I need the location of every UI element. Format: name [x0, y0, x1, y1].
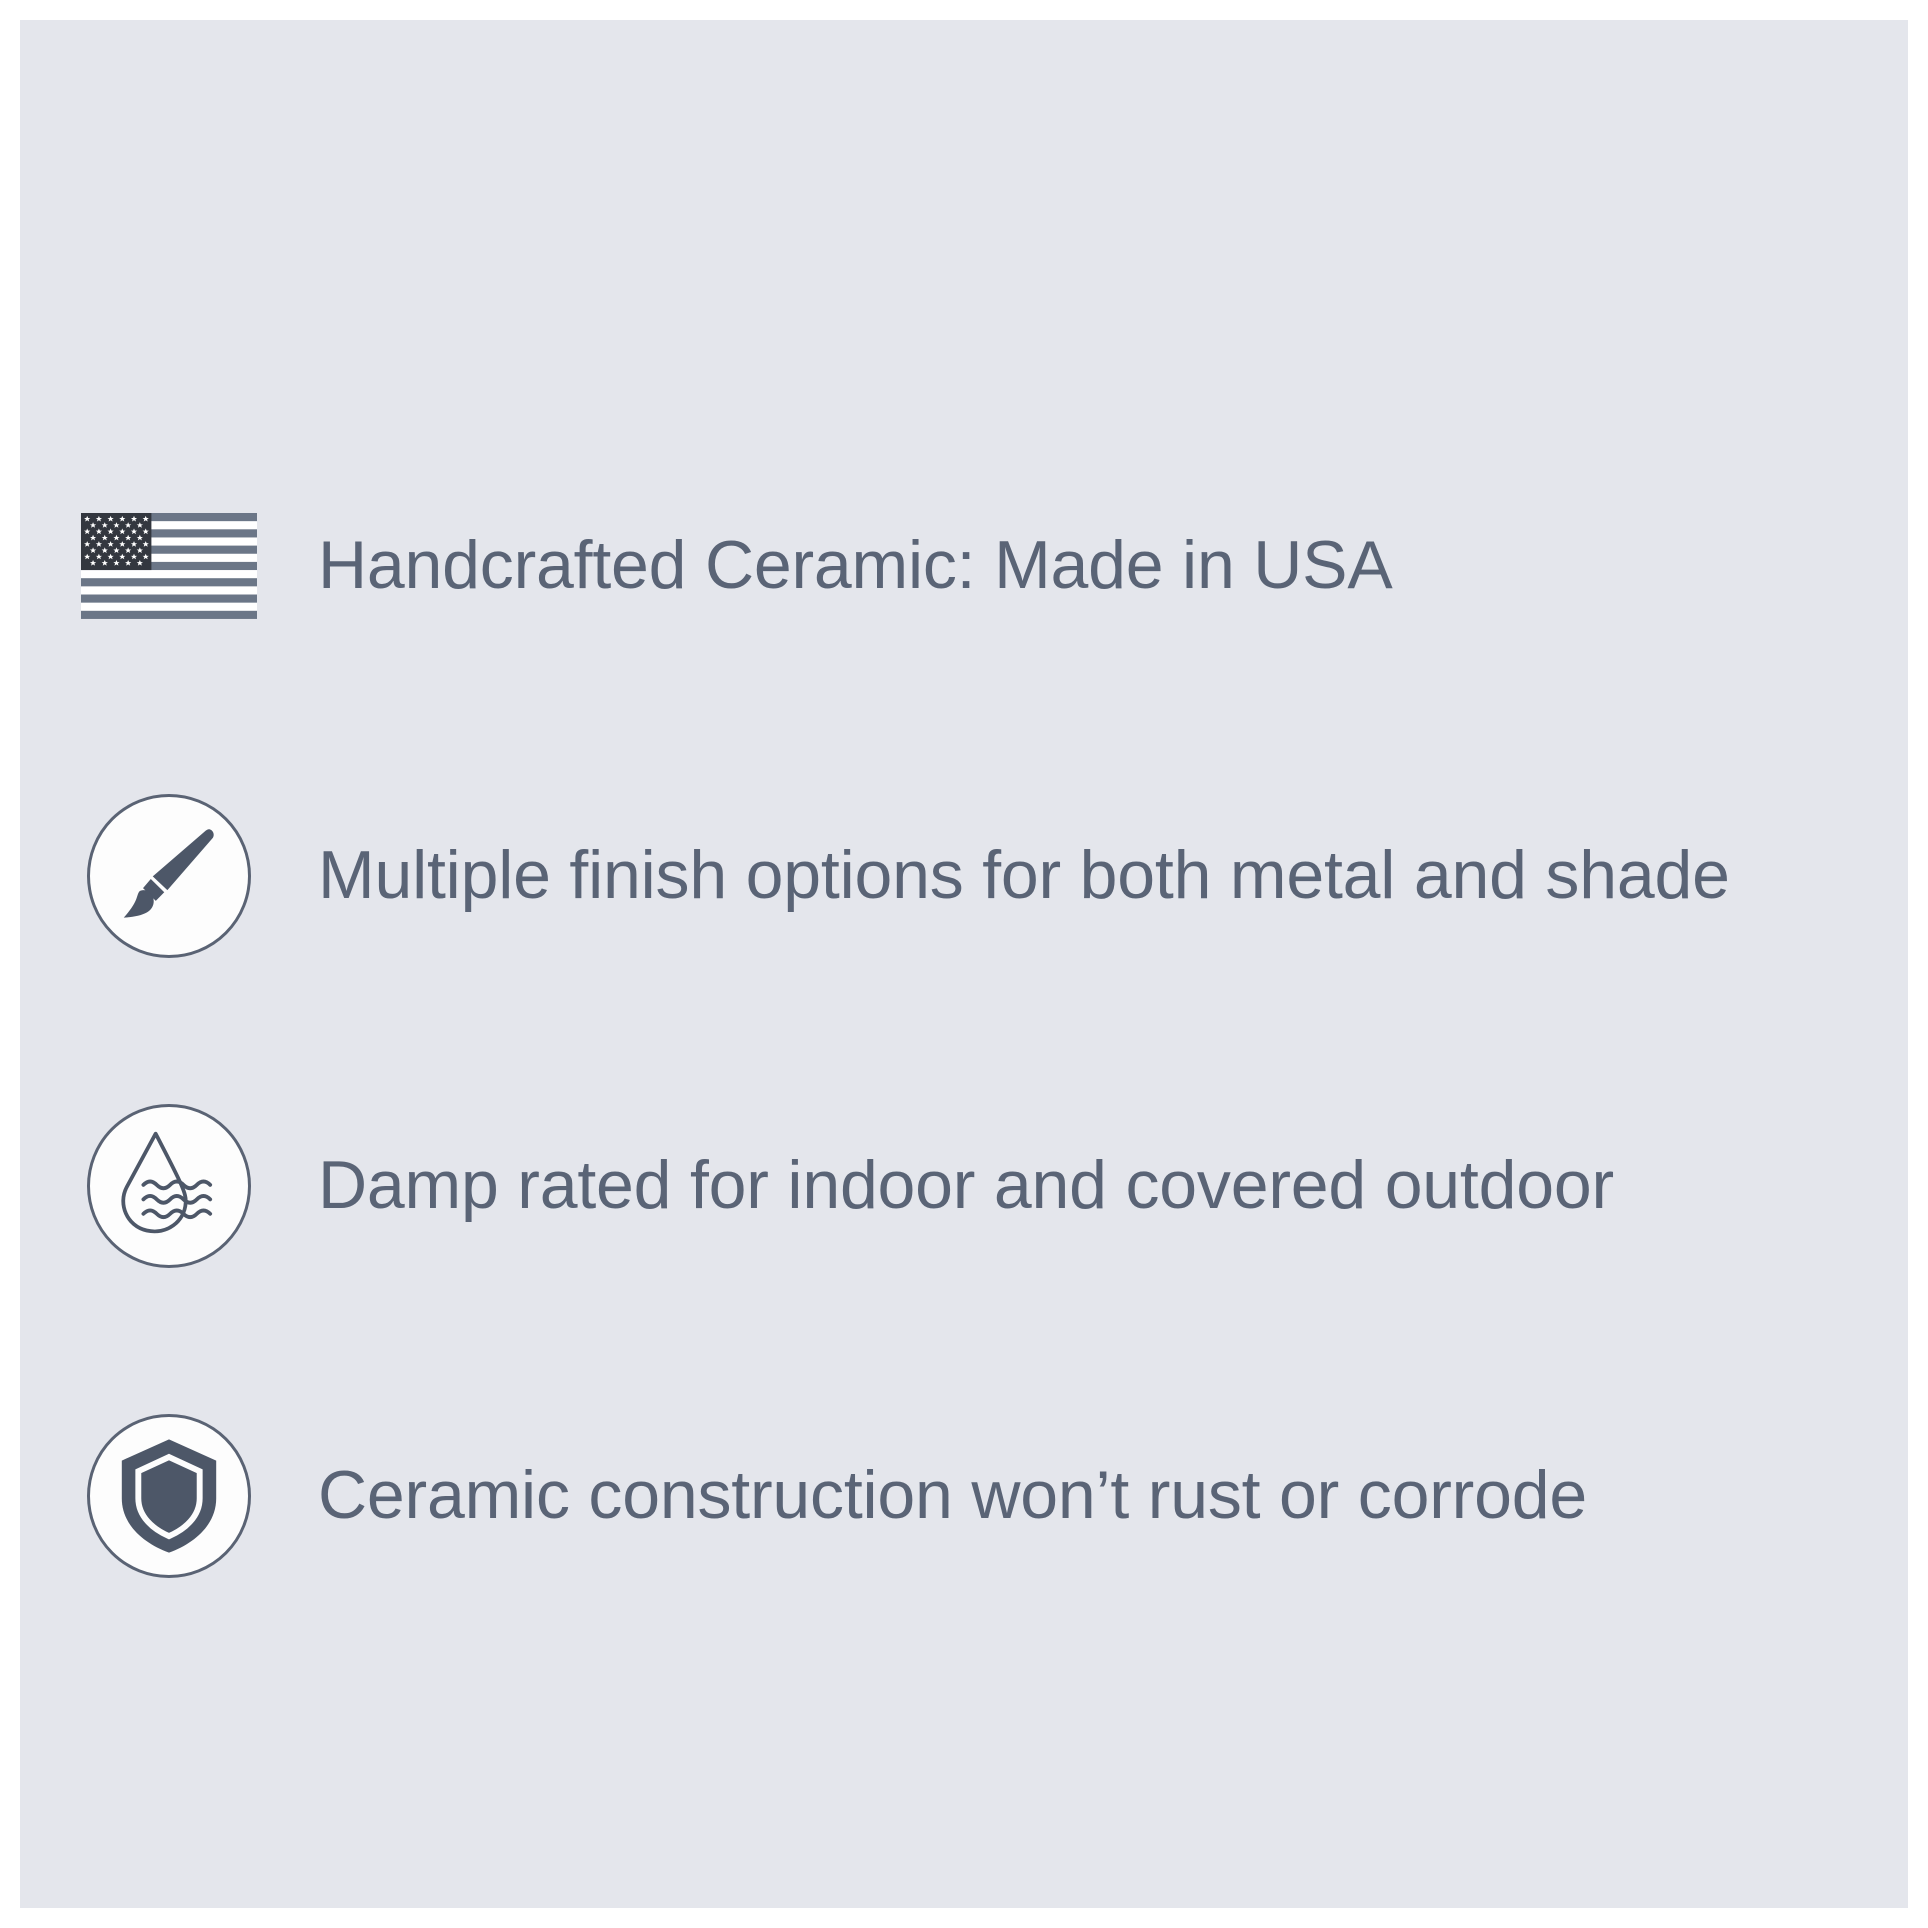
icon-circle — [87, 1414, 251, 1578]
list-item: Handcrafted Ceramic: Made in USA — [76, 471, 1876, 661]
list-item: Multiple finish options for both metal a… — [76, 781, 1876, 971]
feature-label: Ceramic construction won’t rust or corro… — [318, 1459, 1587, 1532]
usa-flag-icon — [81, 513, 257, 619]
feature-label: Handcrafted Ceramic: Made in USA — [318, 529, 1393, 602]
feature-panel: Handcrafted Ceramic: Made in USA Multipl… — [20, 20, 1908, 1908]
water-droplet-waves-icon — [113, 1127, 225, 1245]
feature-label: Multiple finish options for both metal a… — [318, 839, 1730, 912]
icon-circle — [87, 1104, 251, 1268]
icon-circle — [87, 794, 251, 958]
feature-icon-slot — [76, 473, 262, 659]
feature-icon-slot — [76, 1403, 262, 1589]
feature-icon-slot — [76, 783, 262, 969]
feature-label: Damp rated for indoor and covered outdoo… — [318, 1149, 1614, 1222]
list-item: Damp rated for indoor and covered outdoo… — [76, 1091, 1876, 1281]
feature-icon-slot — [76, 1093, 262, 1279]
list-item: Ceramic construction won’t rust or corro… — [76, 1401, 1876, 1591]
shield-icon — [117, 1437, 221, 1555]
paintbrush-icon — [111, 818, 227, 934]
